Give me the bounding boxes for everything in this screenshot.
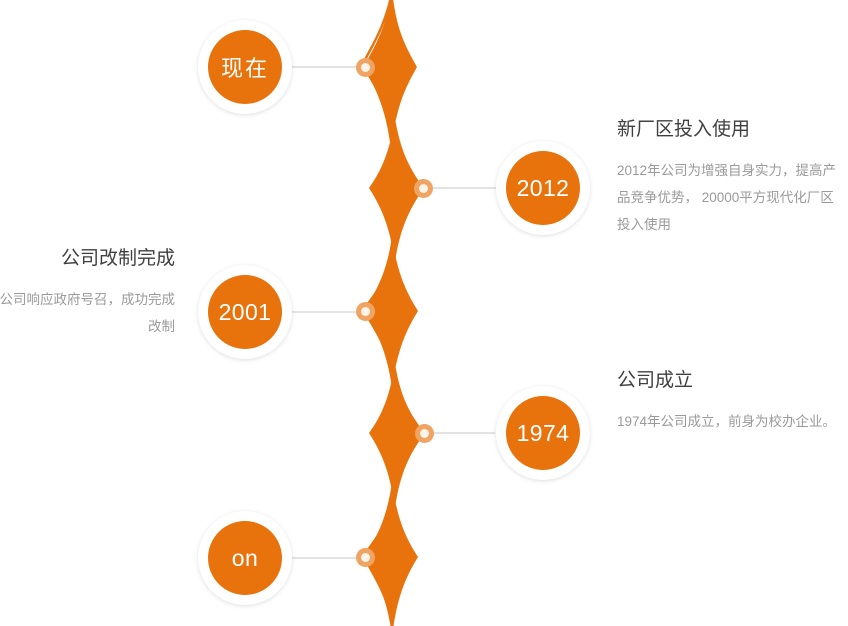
milestone-title-2001: 公司改制完成 <box>0 247 175 272</box>
milestone-bubble-label-on: on <box>208 521 282 595</box>
milestone-bubble-2001[interactable]: 2001 <box>198 265 292 359</box>
milestone-title-1974: 公司成立 <box>617 369 845 394</box>
node-dot-icon-2001[interactable] <box>356 302 375 321</box>
node-dot-icon-now[interactable] <box>356 58 375 77</box>
milestone-info-2001: 公司改制完成 2001年公司响应政府号召，成功完成改制 <box>0 247 175 340</box>
milestone-bubble-1974[interactable]: 1974 <box>496 386 590 480</box>
milestone-bubble-label-2001: 2001 <box>208 275 282 349</box>
connector-line-2012 <box>424 187 496 189</box>
milestone-bubble-label-1974: 1974 <box>506 396 580 470</box>
connector-line-on <box>292 557 364 559</box>
connector-line-1974 <box>425 432 495 434</box>
timeline-infographic: 现在 2012 2001 1974 on 新厂区投入使用 2012年公司为增强自… <box>0 0 848 626</box>
connector-line-2001 <box>292 311 364 313</box>
milestone-bubble-on[interactable]: on <box>198 511 292 605</box>
milestone-body-1974: 1974年公司成立，前身为校办企业。 <box>617 408 845 435</box>
milestone-bubble-2012[interactable]: 2012 <box>496 141 590 235</box>
milestone-bubble-label-now: 现在 <box>208 30 282 104</box>
milestone-bubble-label-2012: 2012 <box>506 151 580 225</box>
milestone-bubble-now[interactable]: 现在 <box>198 20 292 114</box>
milestone-body-2012: 2012年公司为增强自身实力，提高产品竞争优势， 20000平方现代化厂区投入使… <box>617 157 845 238</box>
node-dot-icon-1974[interactable] <box>415 424 434 443</box>
milestone-body-2001: 2001年公司响应政府号召，成功完成改制 <box>0 286 175 340</box>
milestone-info-2012: 新厂区投入使用 2012年公司为增强自身实力，提高产品竞争优势， 20000平方… <box>617 118 845 238</box>
milestone-title-2012: 新厂区投入使用 <box>617 118 845 143</box>
node-dot-icon-on[interactable] <box>356 548 375 567</box>
connector-line-now <box>292 66 364 68</box>
milestone-info-1974: 公司成立 1974年公司成立，前身为校办企业。 <box>617 369 845 435</box>
node-dot-icon-2012[interactable] <box>414 179 433 198</box>
